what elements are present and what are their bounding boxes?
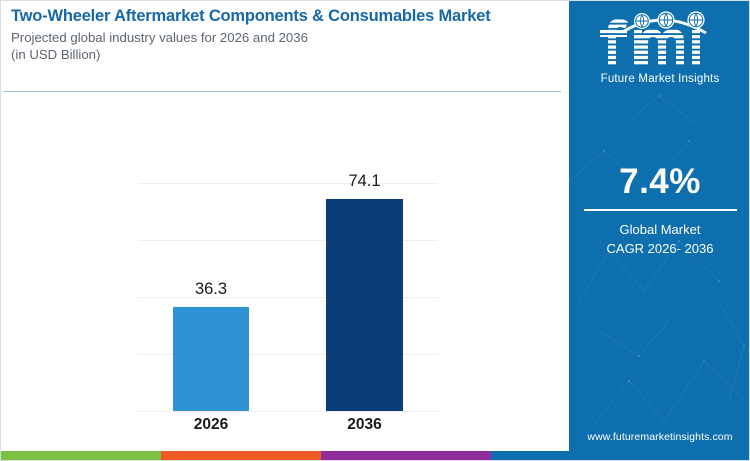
strip-segment-green: [1, 451, 161, 461]
bar-value-2026: 36.3: [173, 280, 249, 299]
bar-value-2036: 74.1: [326, 172, 403, 191]
header-divider: [4, 91, 561, 92]
header-block: Two-Wheeler Aftermarket Components & Con…: [11, 6, 559, 63]
gridline-baseline: [138, 411, 438, 412]
cagr-divider: [584, 209, 737, 211]
fmi-logo-icon: [594, 9, 726, 71]
brand-side-panel: Future Market Insights 7.4% Global Marke…: [569, 1, 750, 461]
strip-segment-blue: [491, 451, 569, 461]
plot-area: 36.3 74.1 2026 2036: [138, 154, 438, 411]
fmi-logo-block: Future Market Insights: [569, 9, 750, 85]
logo-tagline: Future Market Insights: [569, 73, 750, 85]
cagr-value: 7.4%: [569, 161, 750, 203]
bottom-color-strip: [1, 451, 569, 461]
strip-segment-orange: [161, 451, 321, 461]
chart-infographic: Two-Wheeler Aftermarket Components & Con…: [0, 0, 750, 461]
cagr-caption: Global Market CAGR 2026- 2036: [569, 220, 750, 258]
bar-2036[interactable]: [326, 199, 403, 411]
bar-2026[interactable]: [173, 307, 249, 411]
cagr-block: 7.4% Global Market CAGR 2026- 2036: [569, 161, 750, 258]
category-label-2026: 2026: [163, 416, 259, 434]
category-label-2036: 2036: [316, 416, 413, 434]
website-url[interactable]: www.futuremarketinsights.com: [569, 431, 750, 443]
page-title: Two-Wheeler Aftermarket Components & Con…: [11, 6, 559, 26]
strip-segment-purple: [321, 451, 491, 461]
cagr-caption-line2: CAGR 2026- 2036: [569, 239, 750, 258]
chart-main-area: Two-Wheeler Aftermarket Components & Con…: [1, 1, 569, 451]
page-subtitle: Projected global industry values for 202…: [11, 29, 559, 63]
plot-wrapper: 36.3 74.1 2026 2036: [1, 101, 569, 451]
cagr-caption-line1: Global Market: [569, 220, 750, 239]
